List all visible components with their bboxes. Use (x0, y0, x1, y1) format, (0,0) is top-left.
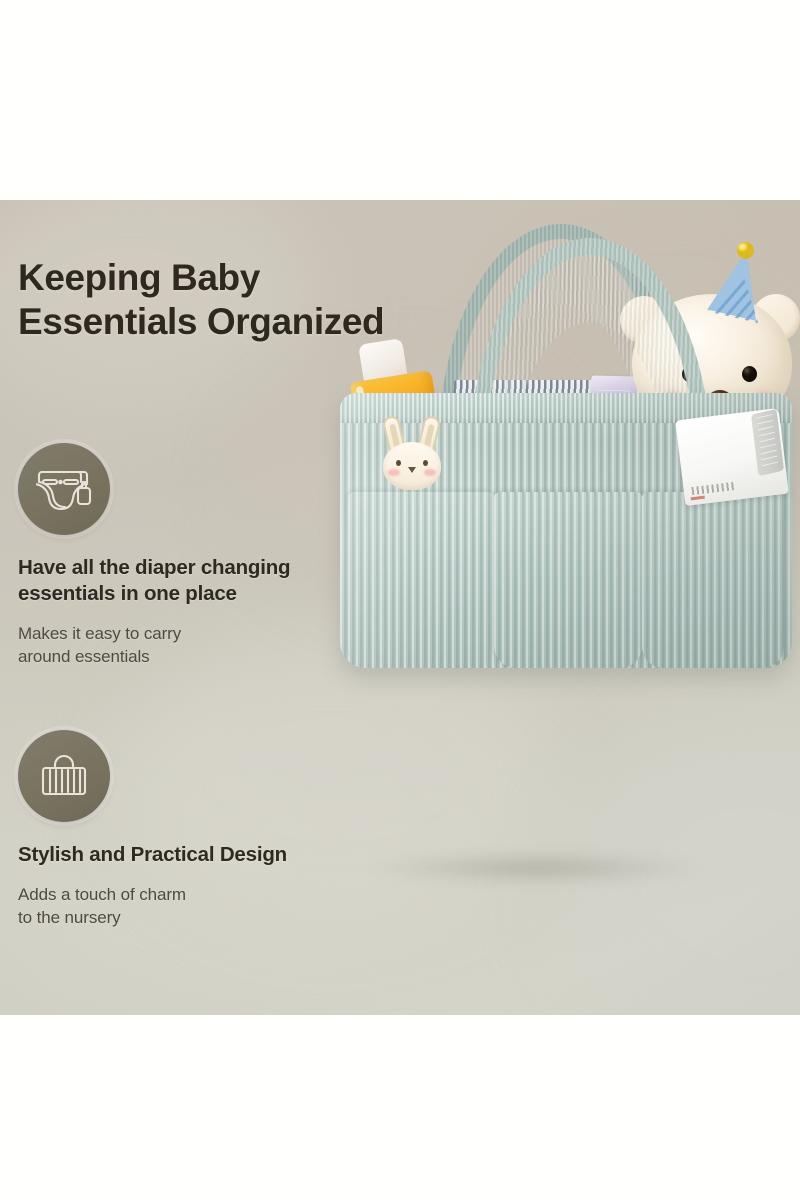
feature-subtext-line-1: Adds a touch of charm (18, 885, 186, 904)
feature-subtext-line-1: Makes it easy to carry (18, 624, 181, 643)
diaper-bottle-icon (18, 443, 110, 535)
feature-subtext: Makes it easy to carry around essentials (18, 623, 348, 668)
feature-block-stylish-design: Stylish and Practical Design Adds a touc… (18, 730, 348, 929)
bunny-face-patch (380, 416, 444, 490)
feature-block-diaper-essentials: Have all the diaper changing essentials … (18, 443, 348, 669)
feature-subtext-line-2: around essentials (18, 647, 150, 666)
diaper-caddy-product (318, 218, 800, 878)
caddy-pocket-center (494, 492, 642, 668)
bear-eye-right (742, 366, 757, 382)
headline-line-1: Keeping Baby (18, 257, 260, 298)
bunny-eye-right (423, 460, 428, 466)
caddy-pocket-right (642, 492, 784, 668)
wipes-pouch-accent (691, 496, 705, 501)
feature-title: Stylish and Practical Design (18, 842, 348, 868)
wipes-pouch-label (691, 482, 734, 495)
bunny-nose (408, 467, 416, 473)
feature-title-line-2: essentials in one place (18, 582, 237, 605)
party-hat-pompom (737, 242, 754, 259)
lifestyle-photo: Keeping Baby Essentials Organized (0, 200, 800, 1015)
feature-subtext-line-2: to the nursery (18, 908, 121, 927)
feature-subtext: Adds a touch of charm to the nursery (18, 884, 348, 929)
bunny-face (383, 442, 441, 490)
product-marketing-image: Keeping Baby Essentials Organized (0, 0, 800, 1200)
bunny-eye-left (396, 460, 401, 466)
feature-title-line-1: Have all the diaper changing (18, 556, 290, 579)
basket-caddy-icon (18, 730, 110, 822)
white-wipes-pouch (675, 408, 789, 506)
feature-title: Have all the diaper changing essentials … (18, 555, 348, 607)
bunny-blush-left (388, 469, 400, 476)
caddy-pocket-left (348, 492, 494, 668)
bunny-blush-right (424, 469, 436, 476)
